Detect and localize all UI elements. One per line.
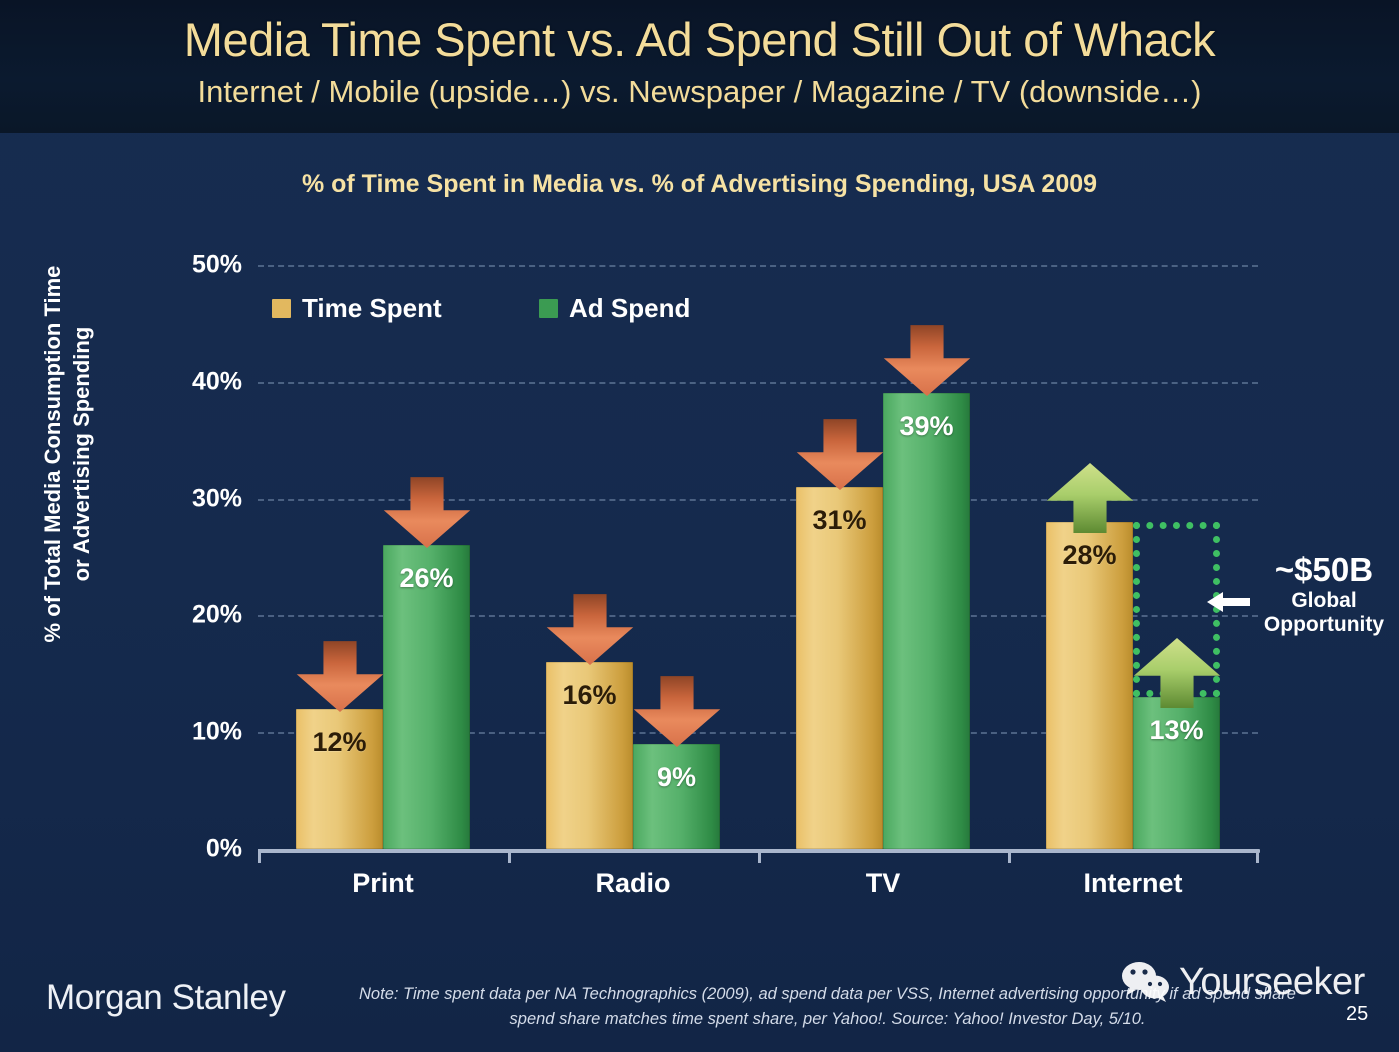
global-opportunity-callout: ~$50B Global Opportunity (1249, 551, 1399, 636)
y-axis-tick-30: 30% (172, 484, 242, 513)
logo-word-stanley: Stanley (172, 978, 286, 1017)
bar-value-tv-time-spent: 31% (796, 505, 883, 536)
down-arrow-radio-time-spent (544, 594, 636, 666)
up-arrow-internet-ad-spend (1131, 637, 1223, 709)
down-arrow-print-ad-spend (381, 477, 473, 549)
down-arrow-print-time-spent (294, 641, 386, 713)
bar-tv-time-spent[interactable] (796, 487, 883, 849)
bar-value-print-ad-spend: 26% (383, 563, 470, 594)
x-axis-tick (508, 849, 511, 863)
bar-internet-time-spent[interactable] (1046, 522, 1133, 849)
y-axis-tick-20: 20% (172, 601, 242, 630)
y-axis-tick-10: 10% (172, 718, 242, 747)
down-arrow-icon (294, 641, 386, 713)
bar-value-radio-time-spent: 16% (546, 680, 633, 711)
opportunity-amount: ~$50B (1249, 551, 1399, 589)
gridline (258, 265, 1258, 267)
bar-radio-ad-spend[interactable] (633, 744, 720, 849)
down-arrow-icon (794, 419, 886, 491)
down-arrow-icon (881, 325, 973, 397)
bar-value-tv-ad-spend: 39% (883, 411, 970, 442)
bar-tv-ad-spend[interactable] (883, 393, 970, 849)
logo-word-morgan: Morgan (46, 978, 162, 1017)
down-arrow-tv-ad-spend (881, 325, 973, 397)
gridline (258, 382, 1258, 384)
wechat-icon (1120, 960, 1172, 1004)
legend-label: Time Spent (302, 293, 442, 324)
down-arrow-icon (631, 676, 723, 748)
y-axis-tick-labels: 0%10%20%30%40%50% (172, 0, 242, 1052)
x-axis-tick (258, 849, 261, 863)
y-axis-tick-40: 40% (172, 367, 242, 396)
callout-arrow-icon (1204, 587, 1252, 617)
x-axis-label-print: Print (352, 868, 414, 899)
x-axis-label-internet: Internet (1083, 868, 1182, 899)
bar-value-internet-ad-spend: 13% (1133, 715, 1220, 746)
y-axis-title: % of Total Media Consumption Time or Adv… (38, 194, 96, 714)
opportunity-line3: Opportunity (1249, 613, 1399, 637)
watermark: Yourseeker (1120, 960, 1365, 1004)
y-axis-title-line2: or Advertising Spending (67, 194, 96, 714)
footnote-line-2: spend share matches time spent share, pe… (310, 1007, 1345, 1032)
bar-value-internet-time-spent: 28% (1046, 540, 1133, 571)
x-axis-tick (758, 849, 761, 863)
up-arrow-icon (1044, 462, 1136, 534)
down-arrow-radio-ad-spend (631, 676, 723, 748)
up-arrow-internet-time-spent (1044, 462, 1136, 534)
down-arrow-icon (381, 477, 473, 549)
opportunity-line2: Global (1249, 589, 1399, 613)
down-arrow-tv-time-spent (794, 419, 886, 491)
y-axis-title-line1: % of Total Media Consumption Time (38, 194, 67, 714)
bar-value-radio-ad-spend: 9% (633, 762, 720, 793)
page-number: 25 (1346, 1003, 1368, 1026)
legend-label: Ad Spend (569, 293, 690, 324)
slide: Media Time Spent vs. Ad Spend Still Out … (0, 0, 1399, 1052)
watermark-text: Yourseeker (1179, 961, 1365, 1004)
x-axis-label-radio: Radio (595, 868, 670, 899)
y-axis-tick-50: 50% (172, 251, 242, 280)
legend-swatch-icon (539, 299, 558, 318)
x-axis-label-tv: TV (866, 868, 901, 899)
bar-value-print-time-spent: 12% (296, 727, 383, 758)
legend-item-time-spent[interactable]: Time Spent (272, 293, 442, 324)
down-arrow-icon (544, 594, 636, 666)
x-axis-tick (1008, 849, 1011, 863)
legend-swatch-icon (272, 299, 291, 318)
y-axis-tick-0: 0% (172, 835, 242, 864)
x-axis-tick (1256, 849, 1259, 863)
morgan-stanley-logo: Morgan Stanley (46, 978, 286, 1018)
legend-item-ad-spend[interactable]: Ad Spend (539, 293, 690, 324)
up-arrow-icon (1131, 637, 1223, 709)
